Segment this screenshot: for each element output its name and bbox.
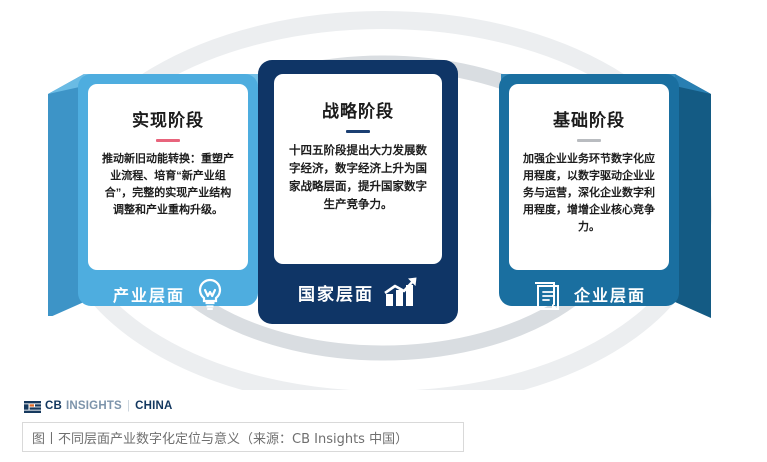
card-enterprise-divider: [577, 139, 601, 142]
card-nation[interactable]: 战略阶段 十四五阶段提出大力发展数字经济，数字经济上升为国家战略层面，提升国家数…: [252, 56, 464, 328]
figure-caption-text: 图丨不同层面产业数字化定位与意义（来源：CB Insights 中国）: [32, 428, 408, 447]
card-nation-title: 战略阶段: [322, 97, 394, 122]
card-nation-bar-label: 国家层面: [298, 280, 374, 305]
card-enterprise-bottom-bar: 企业层面: [501, 274, 677, 314]
card-enterprise-body: 加强企业业务环节数字化应用程度，以数字驱动企业业务与运营，深化企业数字利用程度，…: [521, 151, 657, 236]
card-industry-title: 实现阶段: [132, 106, 204, 131]
card-enterprise-bar-label: 企业层面: [574, 282, 646, 306]
card-enterprise-side: [675, 74, 711, 318]
figure-caption-box: 图丨不同层面产业数字化定位与意义（来源：CB Insights 中国）: [22, 422, 464, 452]
card-industry-bar-label: 产业层面: [113, 282, 185, 306]
logo-text-insights: INSIGHTS: [66, 401, 122, 413]
logo-text-china: CHINA: [135, 401, 172, 413]
cbinsights-china-logo: CBINSIGHTS|CHINA: [24, 401, 173, 413]
card-nation-body: 十四五阶段提出大力发展数字经济，数字经济上升为国家战略层面，提升国家数字生产竞争…: [286, 142, 430, 214]
card-nation-panel: 战略阶段 十四五阶段提出大力发展数字经济，数字经济上升为国家战略层面，提升国家数…: [274, 74, 442, 264]
card-industry[interactable]: 实现阶段 推动新旧动能转换：重塑产业流程、培育“新产业组合”，完整的实现产业结构…: [44, 66, 264, 316]
lightbulb-icon: [195, 277, 225, 311]
footer-region: CBINSIGHTS|CHINA 图丨不同层面产业数字化定位与意义（来源：CB …: [0, 390, 767, 462]
card-enterprise-panel: 基础阶段 加强企业业务环节数字化应用程度，以数字驱动企业业务与运营，深化企业数字…: [509, 84, 669, 270]
logo-text-separator: |: [126, 401, 131, 413]
logo-text-cb: CB: [45, 401, 62, 413]
card-industry-divider: [156, 139, 180, 142]
card-enterprise-title: 基础阶段: [553, 106, 625, 131]
card-industry-panel: 实现阶段 推动新旧动能转换：重塑产业流程、培育“新产业组合”，完整的实现产业结构…: [88, 84, 248, 270]
card-industry-body: 推动新旧动能转换：重塑产业流程、培育“新产业组合”，完整的实现产业结构调整和产业…: [100, 151, 236, 219]
card-enterprise[interactable]: 基础阶段 加强企业业务环节数字化应用程度，以数字驱动企业业务与运营，深化企业数字…: [487, 66, 715, 318]
card-nation-divider: [346, 130, 370, 133]
card-industry-bottom-bar: 产业层面: [88, 274, 250, 314]
cbinsights-logo-mark: [24, 401, 41, 413]
card-nation-bottom-bar: 国家层面: [274, 268, 444, 316]
documents-icon: [532, 277, 564, 311]
growth-chart-icon: [384, 276, 420, 308]
